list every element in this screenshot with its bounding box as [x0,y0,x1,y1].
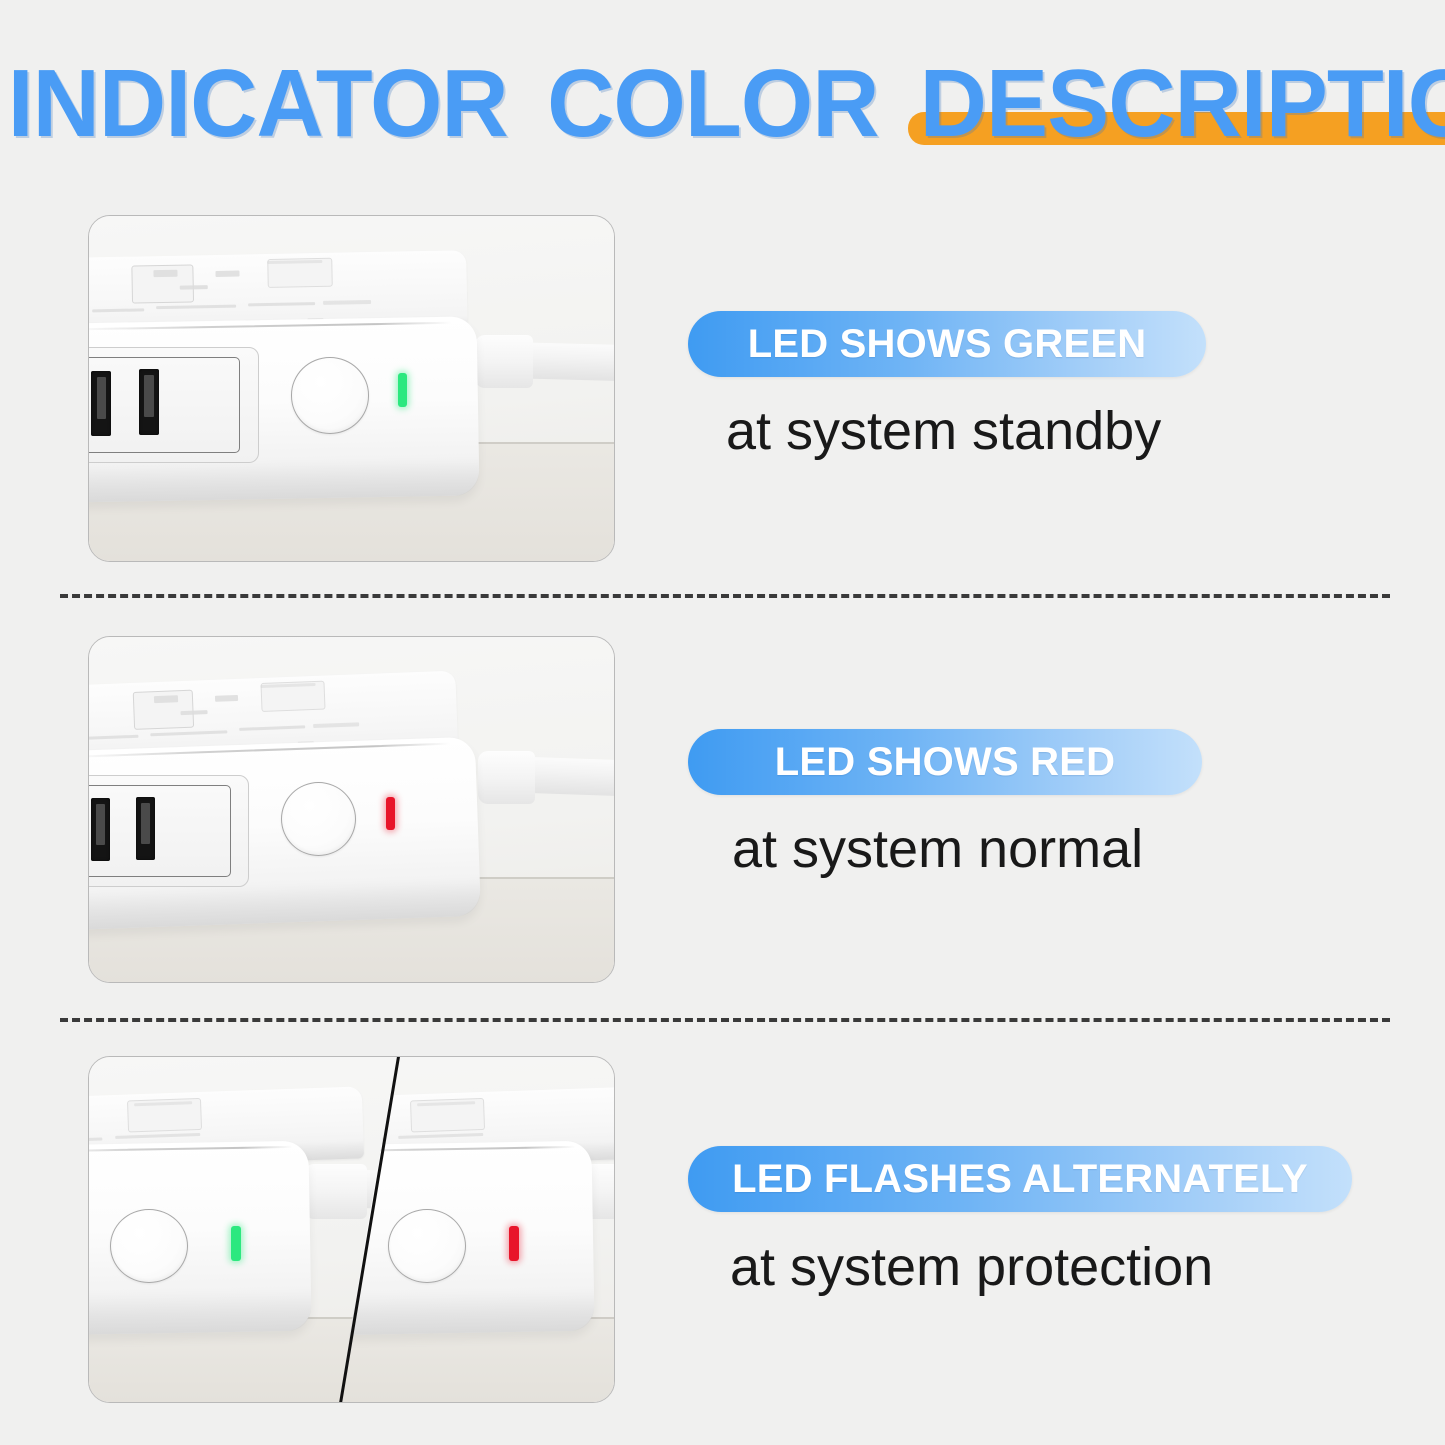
caption-protection: at system protection [730,1236,1213,1298]
photo-standby [88,215,615,562]
title-word-indicator: INDICATOR [8,52,508,156]
badge-led-shows-green: LED SHOWS GREEN [688,311,1206,377]
title-word-description: DESCRIPTION [920,52,1445,156]
led-indicator-red [509,1226,519,1261]
title-word-color: COLOR [547,52,878,156]
power-button-icon [281,782,357,856]
photo-protection [88,1056,615,1403]
led-indicator-red [386,797,395,830]
section-normal: LED SHOWS RED at system normal [0,636,1445,986]
section-standby: LED SHOWS GREEN at system standby [0,215,1445,565]
badge-led-flashes-alternately: LED FLASHES ALTERNATELY [688,1146,1352,1212]
badge-led-shows-red: LED SHOWS RED [688,729,1202,795]
divider-2 [60,1018,1390,1022]
section-protection: LED FLASHES ALTERNATELY at system protec… [0,1056,1445,1406]
power-button-icon [110,1209,188,1283]
badge-label: LED SHOWS RED [775,740,1115,785]
caption-normal: at system normal [732,818,1143,880]
photo-normal [88,636,615,983]
page-title: INDICATOR COLOR DESCRIPTION [0,52,1445,162]
badge-label: LED SHOWS GREEN [748,322,1147,367]
infographic-page: INDICATOR COLOR DESCRIPTION [0,0,1445,1445]
caption-standby: at system standby [726,400,1161,462]
badge-label: LED FLASHES ALTERNATELY [732,1157,1308,1202]
divider-1 [60,594,1390,598]
led-indicator-green [398,373,407,408]
led-indicator-green [231,1226,241,1261]
power-button-icon [291,357,369,433]
power-button-icon [388,1209,466,1283]
